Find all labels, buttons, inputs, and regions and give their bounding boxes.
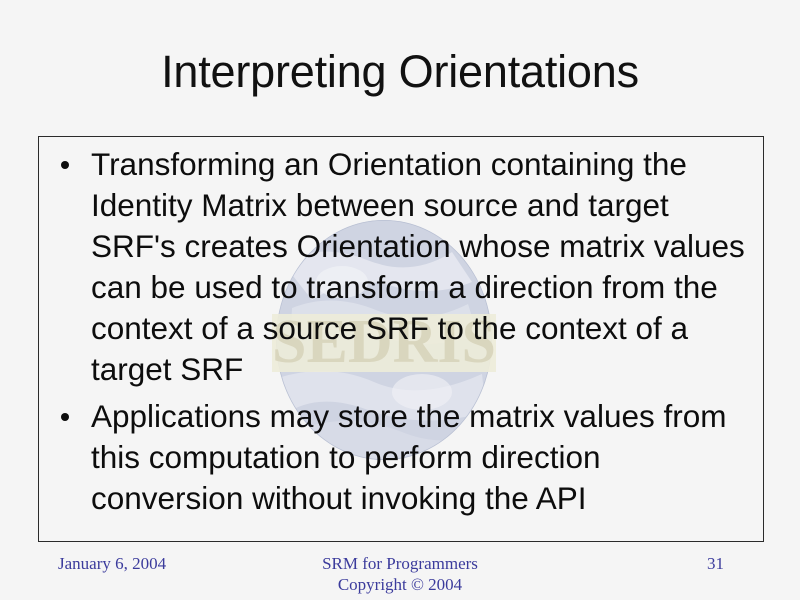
slide: SEDRIS Interpreting Orientations Transfo… [0,0,800,600]
footer-title: SRM for Programmers [322,554,478,573]
content-box: Transforming an Orientation containing t… [38,136,764,542]
footer-copyright: Copyright © 2004 [0,574,800,595]
list-item-text: Applications may store the matrix values… [91,396,753,519]
page-title: Interpreting Orientations [0,46,800,98]
slide-footer: January 6, 2004 SRM for Programmers Copy… [0,551,800,599]
bullet-dot-icon [61,413,69,421]
bullet-dot-icon [61,161,69,169]
list-item: Transforming an Orientation containing t… [49,144,753,390]
list-item: Applications may store the matrix values… [49,396,753,519]
bullet-list: Transforming an Orientation containing t… [39,144,763,519]
list-item-text: Transforming an Orientation containing t… [91,144,753,390]
page-number: 31 [707,553,724,574]
footer-center: SRM for Programmers Copyright © 2004 [0,553,800,595]
